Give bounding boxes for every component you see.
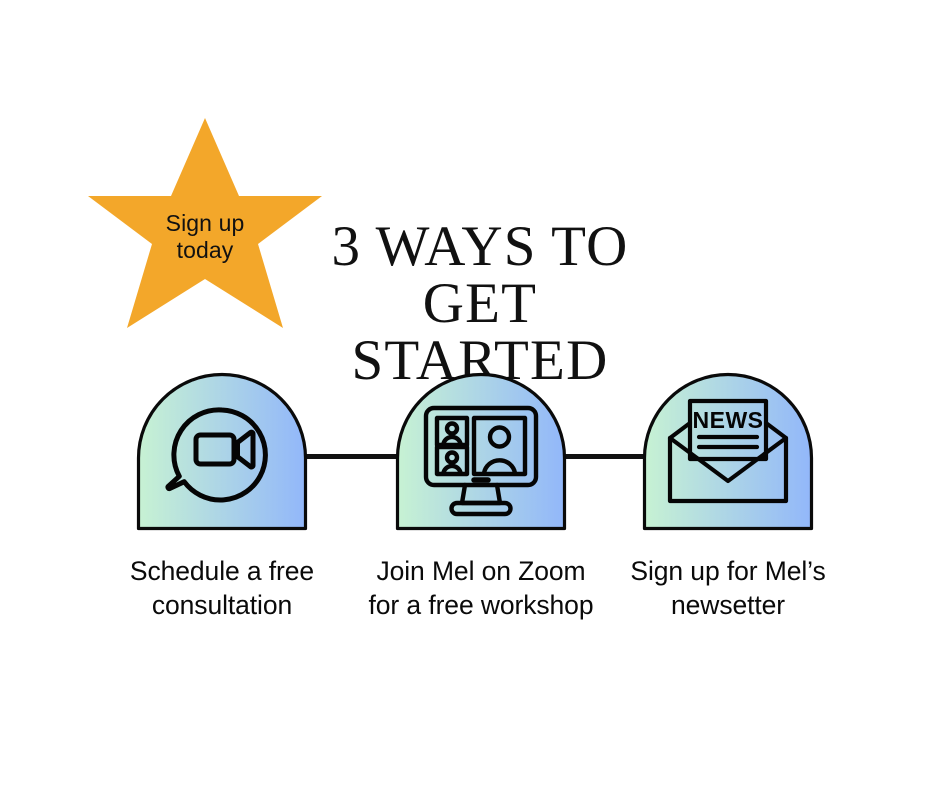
step-join-zoom-workshop[interactable]: Join Mel on Zoom for a free workshop	[366, 370, 596, 623]
arch-background-1	[139, 375, 306, 529]
step-1-caption: Schedule a free consultation	[107, 555, 337, 623]
arch-background-2	[398, 375, 565, 529]
step-2-arch	[395, 370, 567, 531]
step-signup-newsletter[interactable]: NEWS Sign up for Mel’s newsetter	[613, 370, 843, 623]
step-1-arch	[136, 370, 308, 531]
page-title: 3 WAYS TO GET STARTED	[268, 218, 692, 389]
step-3-caption: Sign up for Mel’s newsetter	[613, 555, 843, 623]
newsletter-icon-text: NEWS	[693, 407, 764, 433]
steps-row: Schedule a free consultation	[0, 370, 940, 700]
infographic-canvas: Sign up today 3 WAYS TO GET STARTED	[0, 0, 940, 788]
step-schedule-consultation[interactable]: Schedule a free consultation	[107, 370, 337, 623]
step-2-caption: Join Mel on Zoom for a free workshop	[366, 555, 596, 623]
step-3-arch: NEWS	[642, 370, 814, 531]
